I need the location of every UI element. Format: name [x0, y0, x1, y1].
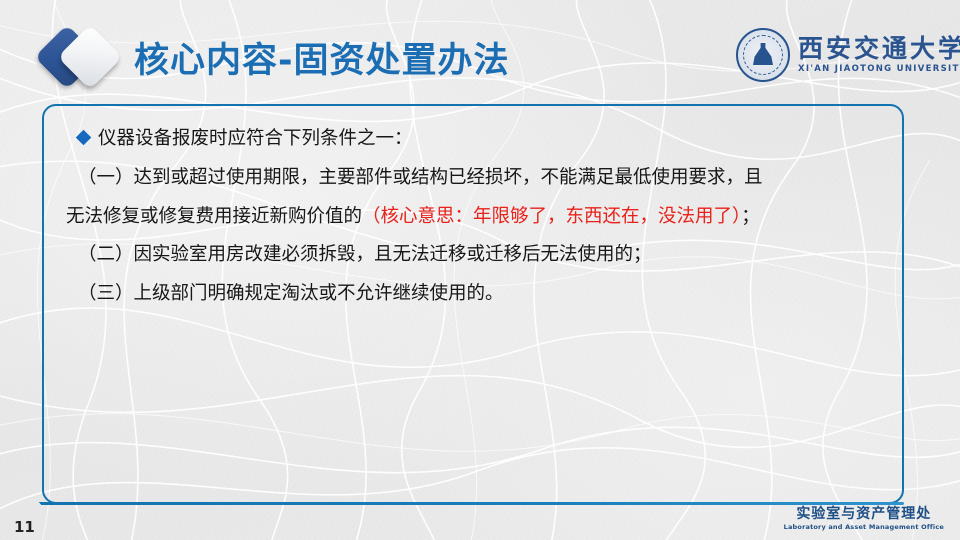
page-title: 核心内容-固资处置办法 — [134, 32, 510, 83]
body-line-item-3: （三）上级部门明确规定淘汰或不允许继续使用的。 — [66, 285, 880, 304]
footer-brand-cn: 实验室与资产管理处 — [784, 507, 944, 522]
page-number: 11 — [14, 518, 35, 536]
text-segment-item-1-part-2-1: （核心意思：年限够了，东西还在，没法用了） — [362, 206, 741, 227]
body-text-block: （一）达到或超过使用期限，主要部件或结构已经损坏，不能满足最低使用要求，且无法修… — [66, 169, 880, 303]
diamond-bullet-icon — [76, 129, 92, 145]
bullet-heading-text: 仪器设备报废时应符合下列条件之一： — [98, 124, 413, 150]
slide-canvas: 核心内容-固资处置办法 西安交通大学 XI'AN JIAOTONG UNIVER… — [0, 0, 960, 540]
footer-divider — [56, 502, 904, 505]
university-name-block: 西安交通大学 XI'AN JIAOTONG UNIVERSITY — [798, 36, 960, 74]
slide-header: 核心内容-固资处置办法 西安交通大学 XI'AN JIAOTONG UNIVER… — [0, 0, 960, 100]
text-segment-item-1-part-1-0: （一）达到或超过使用期限，主要部件或结构已经损坏，不能满足最低使用要求，且 — [78, 167, 763, 188]
university-name-en: XI'AN JIAOTONG UNIVERSITY — [798, 64, 960, 74]
body-line-item-1-part-1: （一）达到或超过使用期限，主要部件或结构已经损坏，不能满足最低使用要求，且 — [66, 169, 880, 188]
university-name-cn: 西安交通大学 — [798, 36, 960, 62]
text-segment-item-2-0: （二）因实验室用房改建必须拆毁，且无法迁移或迁移后无法使用的； — [78, 244, 652, 265]
footer-brand: 实验室与资产管理处 Laboratory and Asset Managemen… — [784, 507, 944, 531]
body-line-item-1-part-2: 无法修复或修复费用接近新购价值的（核心意思：年限够了，东西还在，没法用了）； — [66, 208, 880, 227]
seal-bell-glyph — [753, 43, 773, 65]
university-logo: 西安交通大学 XI'AN JIAOTONG UNIVERSITY — [736, 24, 946, 86]
footer-brand-en: Laboratory and Asset Management Office — [784, 523, 944, 531]
bullet-heading: 仪器设备报废时应符合下列条件之一： — [66, 124, 880, 150]
text-segment-item-3-0: （三）上级部门明确规定淘汰或不允许继续使用的。 — [78, 283, 504, 304]
double-diamond-icon — [40, 26, 140, 88]
content-panel: 仪器设备报废时应符合下列条件之一： （一）达到或超过使用期限，主要部件或结构已经… — [42, 104, 904, 504]
university-seal-icon — [736, 28, 790, 82]
text-segment-item-1-part-2-2: ； — [741, 206, 760, 227]
body-line-item-2: （二）因实验室用房改建必须拆毁，且无法迁移或迁移后无法使用的； — [66, 246, 880, 265]
text-segment-item-1-part-2-0: 无法修复或修复费用接近新购价值的 — [66, 206, 362, 227]
